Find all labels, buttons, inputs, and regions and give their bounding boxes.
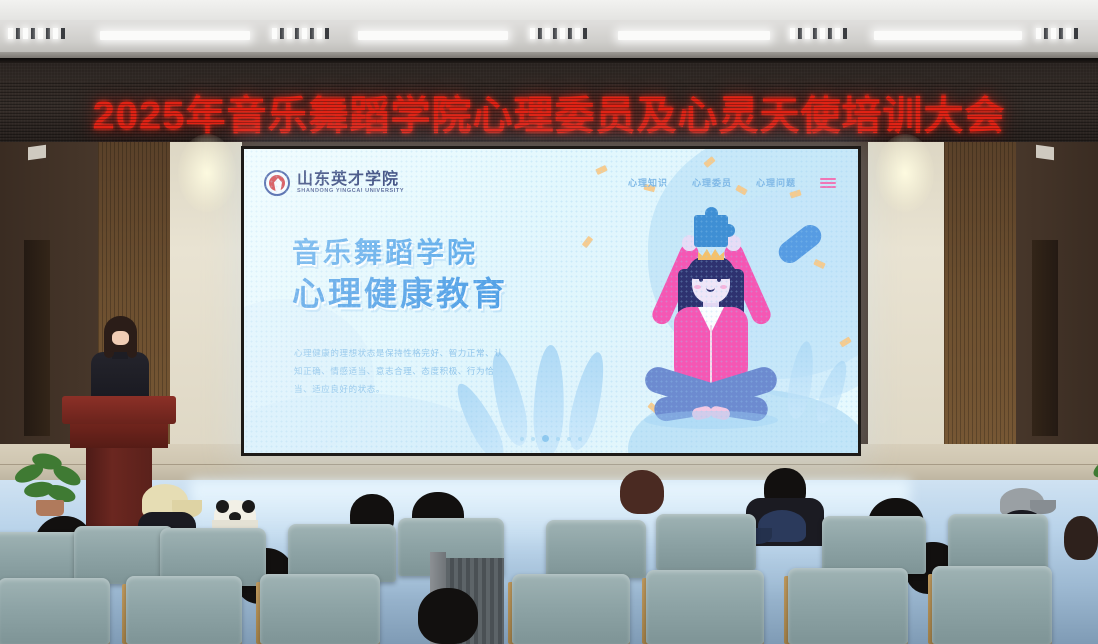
left-side-door[interactable] [24, 240, 50, 436]
confetti-piece [595, 165, 608, 175]
pagination-dot[interactable] [567, 437, 571, 441]
right-cheek [720, 285, 727, 289]
hair-fringe [688, 257, 734, 279]
slide-body-text: 心理健康的理想状态是保持性格完好、智力正常、认知正确、情感适当、意志合理、态度积… [294, 345, 512, 399]
right-eye [717, 277, 721, 282]
ceiling-light-strip [874, 31, 1022, 40]
university-seal-icon [264, 170, 290, 196]
wall-band-seam [0, 464, 1098, 465]
panda-ear-left [216, 500, 229, 513]
left-cheek [694, 285, 701, 289]
slide-pagination-dots[interactable] [520, 435, 582, 442]
left-ceiling-speaker [28, 145, 46, 161]
slide-title-line2: 心理健康教育 [292, 272, 508, 316]
right-ceiling-speaker [1036, 145, 1054, 161]
presentation-slide[interactable]: 山东英才学院 SHANDONG YINGCAI UNIVERSITY 心理知识 … [244, 149, 858, 453]
led-banner-text: 2025年音乐舞蹈学院心理委员及心灵天使培训大会 [0, 83, 1098, 141]
slide-navigation[interactable]: 心理知识 心理委员 心理问题 [628, 176, 836, 189]
crown-icon [698, 249, 724, 260]
confetti-piece [582, 236, 594, 248]
left-wall-light-glow [178, 134, 236, 212]
zipper [710, 325, 712, 387]
panda-ear-right [242, 500, 255, 513]
ceiling-upper-shade [0, 0, 1098, 20]
pagination-dot[interactable] [556, 437, 560, 441]
ceiling-light-strip [618, 31, 770, 40]
auditorium-seat[interactable] [822, 516, 926, 574]
slide-title: 音乐舞蹈学院 心理健康教育 [292, 235, 508, 316]
speaker-podium [62, 396, 176, 424]
ceiling-light-cluster [1036, 28, 1078, 39]
auditorium-seat[interactable] [512, 574, 630, 644]
pagination-dot[interactable] [531, 437, 535, 441]
right-side-door[interactable] [1032, 240, 1058, 436]
left-eye [699, 277, 703, 282]
nav-item-psych-knowledge[interactable]: 心理知识 [628, 176, 668, 189]
attendee-head-brown-hair [620, 470, 664, 514]
auditorium-seat[interactable] [546, 520, 646, 578]
ceiling-light-cluster [8, 28, 65, 39]
ceiling-light-strip [358, 31, 508, 40]
ceiling [0, 0, 1098, 58]
ceiling-light-cluster [790, 28, 847, 39]
auditorium-seat[interactable] [646, 570, 764, 644]
projection-screen-frame: 山东英才学院 SHANDONG YINGCAI UNIVERSITY 心理知识 … [241, 146, 861, 456]
puzzle-piece-icon [694, 215, 728, 247]
auditorium-seat[interactable] [0, 578, 110, 644]
nav-item-psych-committee[interactable]: 心理委员 [692, 176, 732, 189]
auditorium-seat[interactable] [126, 576, 242, 644]
hamburger-menu-icon[interactable] [820, 178, 836, 188]
auditorium-scene: 2025年音乐舞蹈学院心理委员及心灵天使培训大会 [0, 0, 1098, 644]
university-name-cn: 山东英才学院 [297, 172, 404, 189]
attendee-head [1064, 516, 1098, 560]
ground-shadow [644, 411, 778, 429]
pagination-dot[interactable] [578, 437, 582, 441]
meditating-woman-illustration [616, 215, 806, 430]
podium-middle [70, 422, 168, 448]
right-hand [726, 235, 741, 251]
presenter-face [112, 331, 129, 345]
university-logo: 山东英才学院 SHANDONG YINGCAI UNIVERSITY [264, 170, 404, 196]
auditorium-seat[interactable] [788, 568, 908, 644]
right-wall-light-glow [876, 134, 934, 212]
ceiling-light-cluster [272, 28, 329, 39]
auditorium-seat[interactable] [656, 514, 756, 570]
slide-title-line1: 音乐舞蹈学院 [292, 235, 508, 272]
pagination-dot-active[interactable] [542, 435, 549, 442]
auditorium-seat[interactable] [260, 574, 380, 644]
ceiling-light-strip [100, 31, 250, 40]
university-name-en: SHANDONG YINGCAI UNIVERSITY [297, 188, 404, 194]
auditorium-seat[interactable] [932, 566, 1052, 644]
auditorium-seat[interactable] [948, 514, 1048, 570]
nav-item-psych-problems[interactable]: 心理问题 [756, 176, 796, 189]
ceiling-light-cluster [530, 28, 587, 39]
attendee-head [418, 588, 478, 644]
pagination-dot[interactable] [520, 437, 524, 441]
